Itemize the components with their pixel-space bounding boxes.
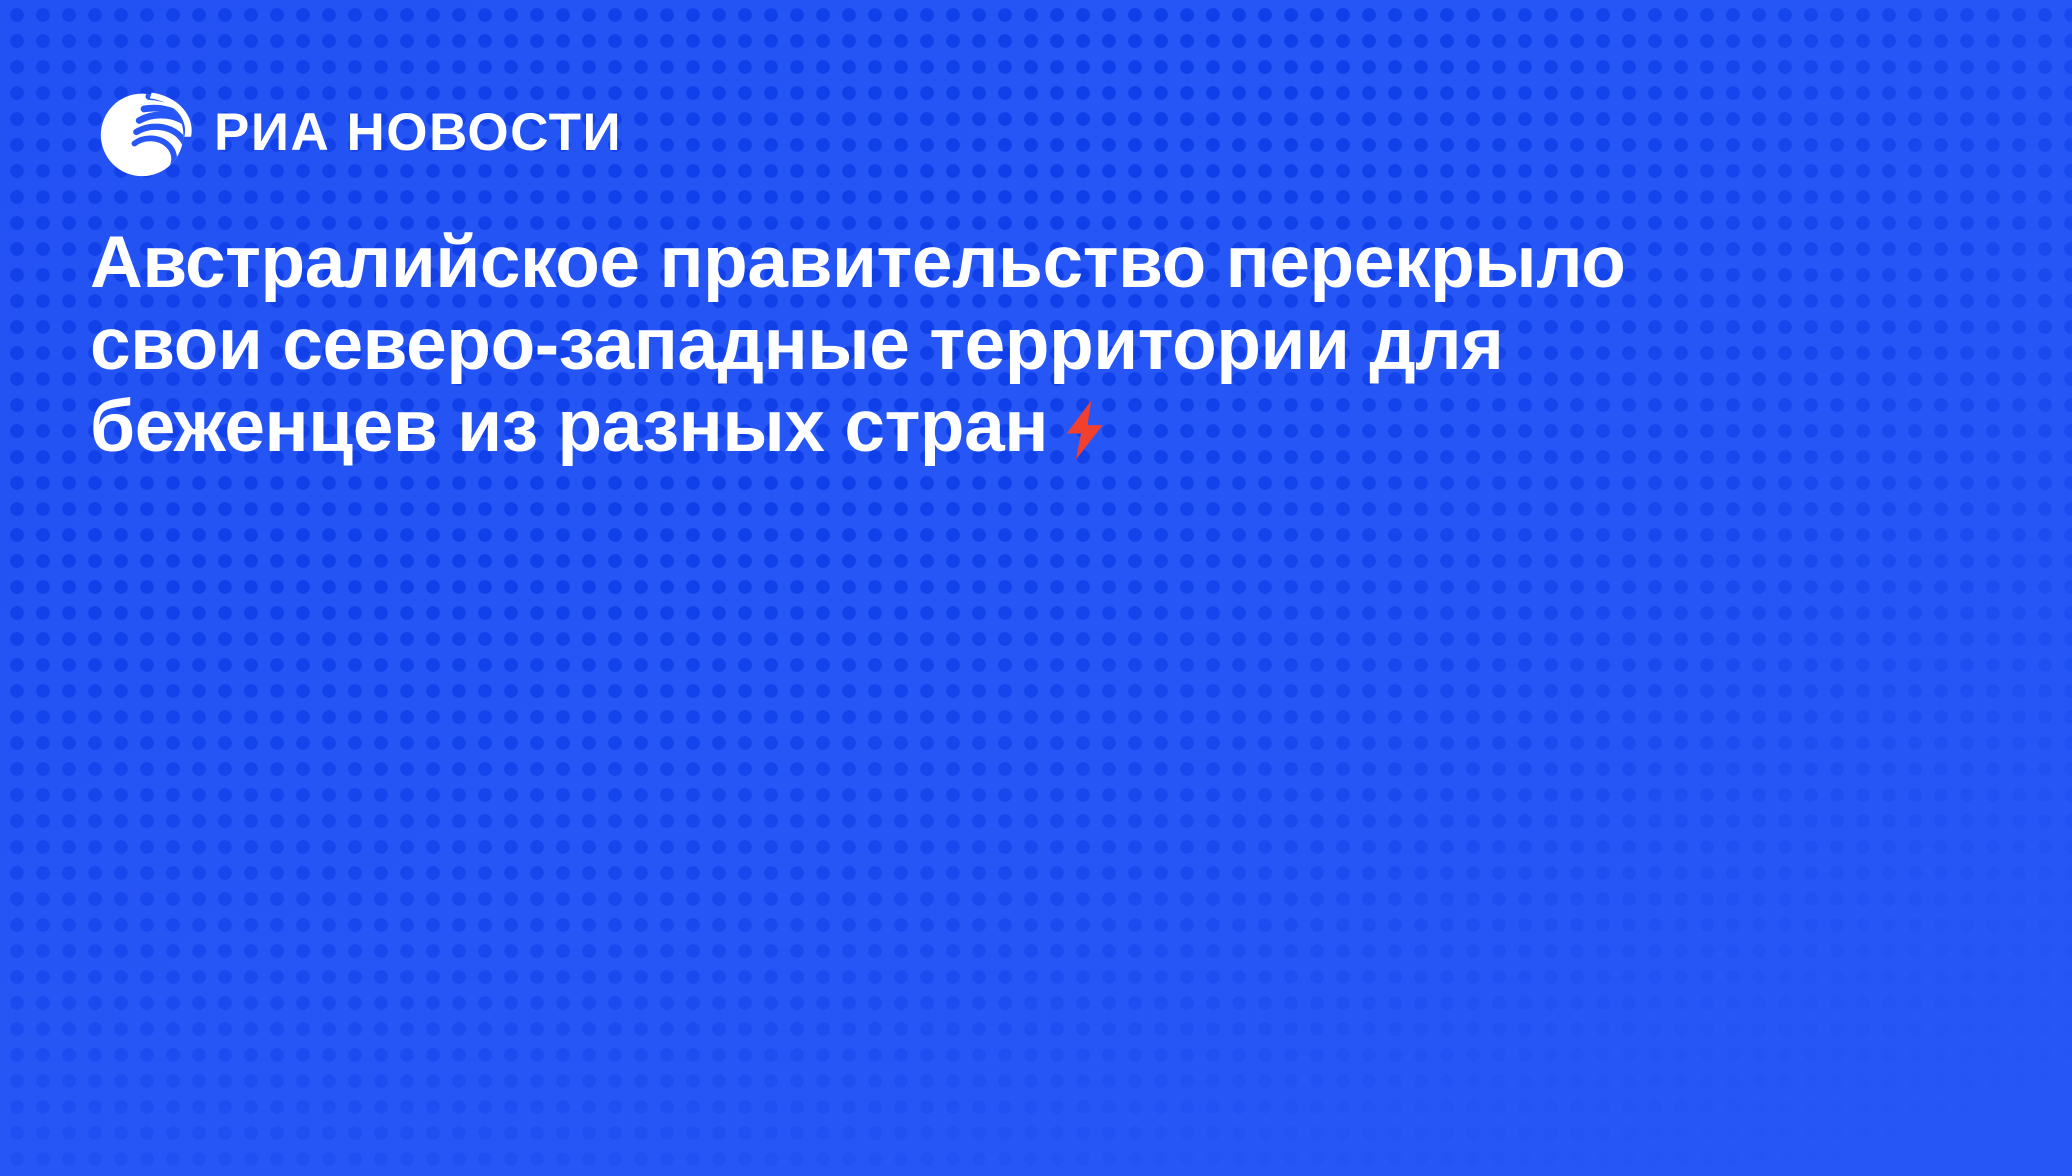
headline-line-3: беженцев из разных стран — [90, 386, 1920, 468]
brand-wordmark: РИА НОВОСТИ — [214, 106, 622, 159]
high-voltage-icon — [1062, 399, 1108, 461]
ria-globe-icon — [96, 84, 192, 180]
headline-line-2: свои северо-западные территории для — [90, 304, 1920, 386]
social-share-card: РИА НОВОСТИ Австралийское правительство … — [0, 0, 2072, 1176]
headline-line-1: Австралийское правительство перекрыло — [90, 222, 1920, 304]
headline: Австралийское правительство перекрыло св… — [90, 222, 1920, 468]
headline-line-3-text: беженцев из разных стран — [90, 386, 1048, 467]
brand-logo[interactable]: РИА НОВОСТИ — [96, 84, 622, 180]
